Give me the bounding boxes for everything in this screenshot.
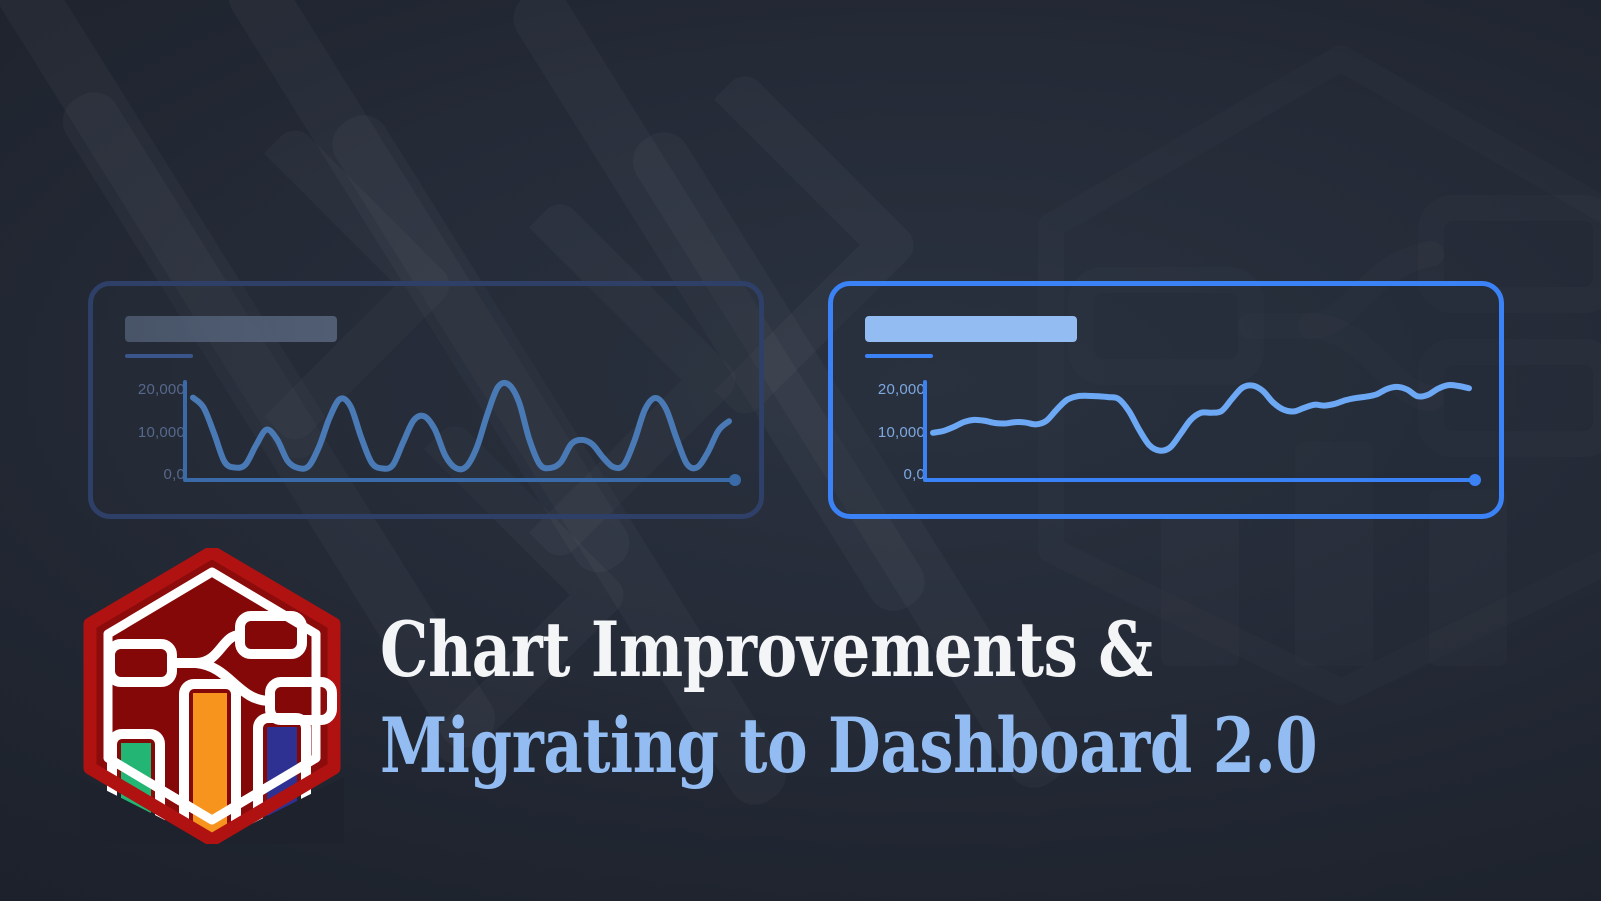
axis-end-dot xyxy=(1469,474,1481,486)
chart-axis xyxy=(925,382,1473,480)
title-block: Chart Improvements & Migrating to Dashbo… xyxy=(380,602,1500,794)
title-line-1: Chart Improvements & xyxy=(380,602,1276,698)
hexagon-pipeline-chart-logo xyxy=(80,548,344,844)
title-line-2: Migrating to Dashboard 2.0 xyxy=(380,698,1276,794)
line-chart-after xyxy=(833,286,1499,514)
chart-panel-after[interactable]: 20,000 10,000 0,0 xyxy=(828,281,1504,519)
promo-banner: 20,000 10,000 0,0 20,000 10,000 0,0 xyxy=(0,0,1601,901)
line-chart-before xyxy=(93,286,759,514)
chart-panel-before[interactable]: 20,000 10,000 0,0 xyxy=(88,281,764,519)
chart-line-before xyxy=(193,383,729,469)
chart-line-after xyxy=(933,385,1469,451)
axis-end-dot xyxy=(729,474,741,486)
